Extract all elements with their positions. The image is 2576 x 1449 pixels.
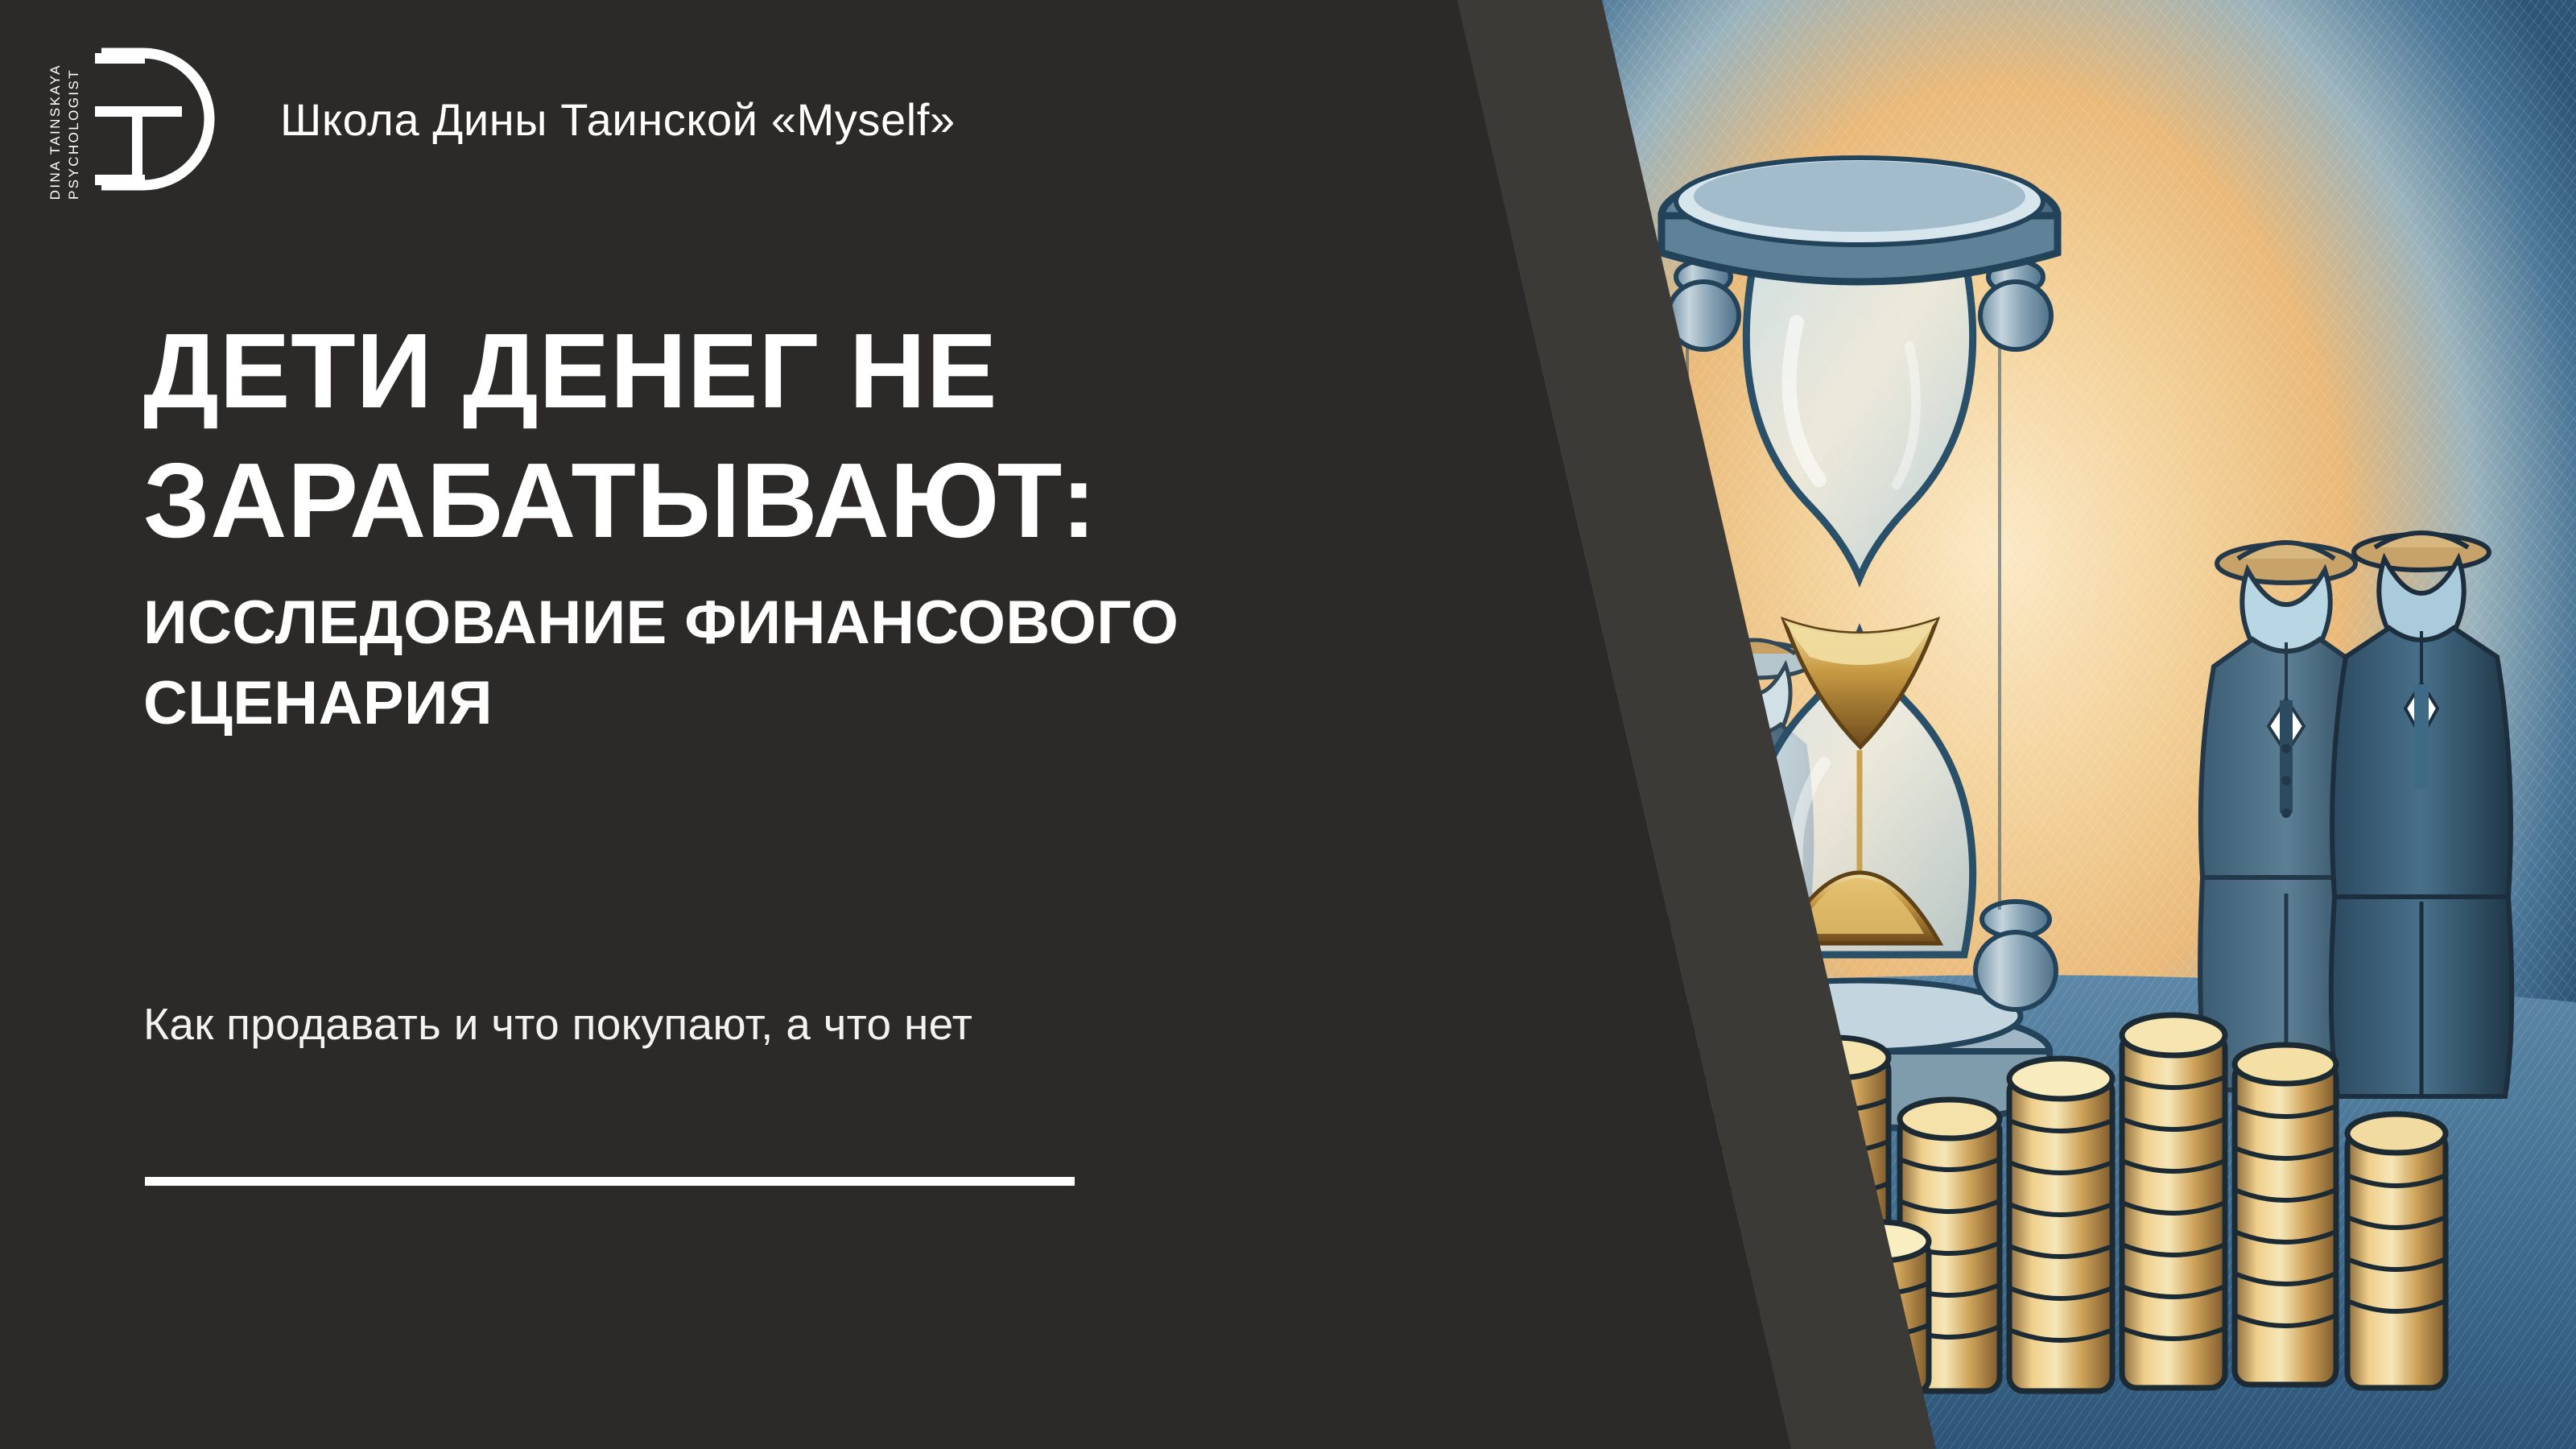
tagline: Как продавать и что покупают, а что нет	[143, 998, 972, 1050]
logo-monogram: DINA TAINSKAYA PSYCHOLOGIST	[48, 39, 258, 200]
headline-line-1: ДЕТИ ДЕНЕГ НЕ	[143, 306, 1399, 436]
coin-stack	[2347, 1114, 2446, 1388]
coin-stack	[2009, 1059, 2112, 1391]
logo-vertical-line-1: DINA TAINSKAYA	[48, 64, 62, 200]
divider-rule	[145, 1177, 1075, 1186]
coin-stack	[2122, 1015, 2225, 1388]
slide-content: DINA TAINSKAYA PSYCHOLOGIST Школа Дины Т…	[0, 0, 1465, 1449]
coin-stack	[2235, 1045, 2336, 1385]
slide-canvas: DINA TAINSKAYA PSYCHOLOGIST Школа Дины Т…	[0, 0, 2576, 1449]
logo-vertical-text: DINA TAINSKAYA PSYCHOLOGIST	[48, 39, 80, 200]
headline-line-2: ЗАРАБАТЫВАЮТ:	[143, 436, 1399, 565]
headline-block: ДЕТИ ДЕНЕГ НЕ ЗАРАБАТЫВАЮТ: ИССЛЕДОВАНИЕ…	[143, 306, 1399, 745]
hourglass-cap-top	[1662, 158, 2058, 282]
subheadline-line-2: СЦЕНАРИЯ	[143, 663, 1399, 744]
brand-name: Школа Дины Таинской «Myself»	[280, 93, 956, 146]
brand-lockup[interactable]: DINA TAINSKAYA PSYCHOLOGIST Школа Дины Т…	[48, 39, 956, 200]
logo-vertical-line-2: PSYCHOLOGIST	[67, 68, 80, 200]
subheadline-line-1: ИССЛЕДОВАНИЕ ФИНАНСОВОГО	[143, 583, 1399, 663]
